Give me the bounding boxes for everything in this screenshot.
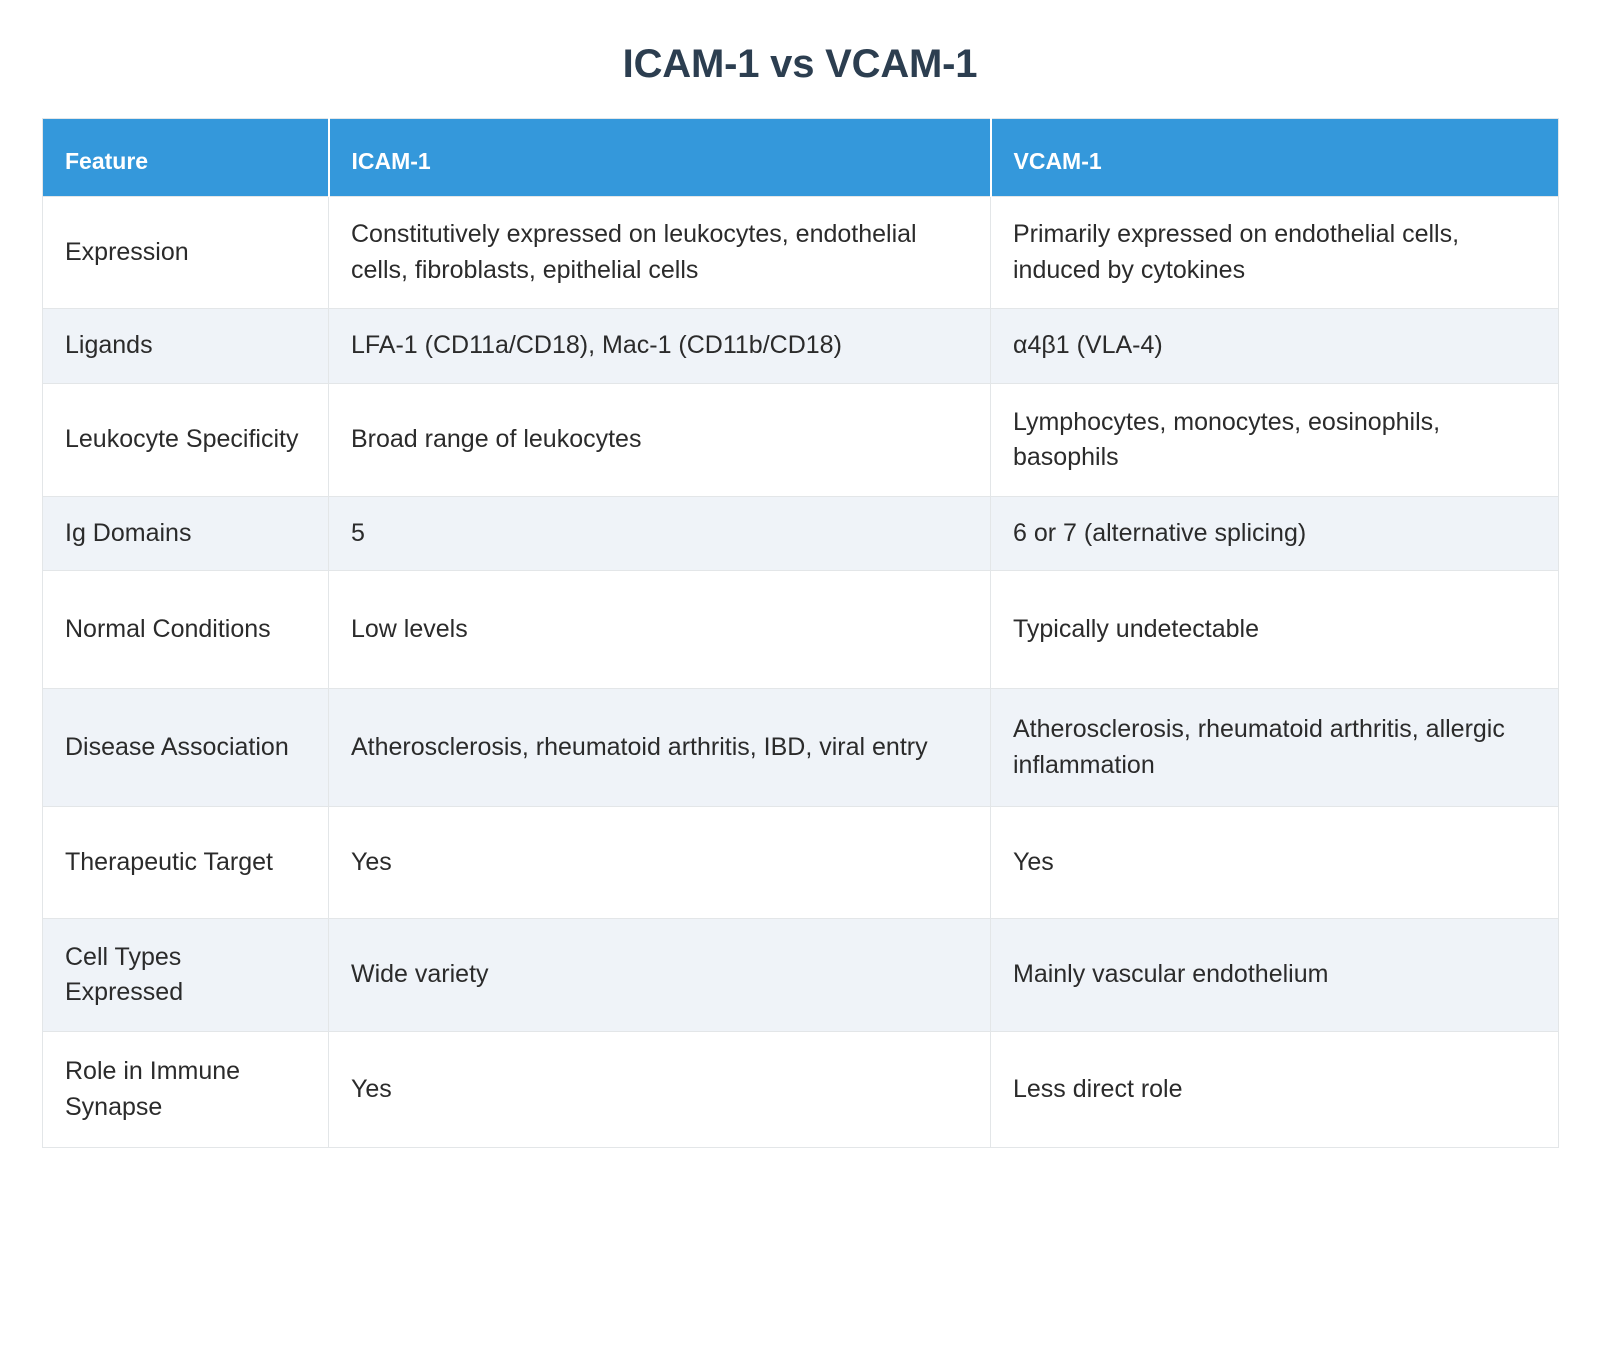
- comparison-table: Feature ICAM-1 VCAM-1 Expression Constit…: [42, 118, 1559, 1148]
- cell-icam1: Atherosclerosis, rheumatoid arthritis, I…: [329, 689, 991, 807]
- cell-icam1: Constitutively expressed on leukocytes, …: [329, 197, 991, 309]
- cell-feature: Ig Domains: [43, 497, 329, 571]
- cell-feature: Leukocyte Specificity: [43, 384, 329, 497]
- cell-feature: Ligands: [43, 309, 329, 384]
- table-row: Normal Conditions Low levels Typically u…: [43, 571, 1559, 689]
- cell-icam1: Low levels: [329, 571, 991, 689]
- cell-icam1: Yes: [329, 1032, 991, 1148]
- cell-vcam1: Yes: [991, 807, 1559, 919]
- cell-vcam1: Mainly vascular endothelium: [991, 919, 1559, 1032]
- column-header-vcam1: VCAM-1: [991, 119, 1559, 197]
- cell-vcam1: α4β1 (VLA-4): [991, 309, 1559, 384]
- page-root: ICAM-1 vs VCAM-1 Feature ICAM-1 VCAM-1 E…: [0, 0, 1600, 1346]
- table-row: Role in Immune Synapse Yes Less direct r…: [43, 1032, 1559, 1148]
- cell-icam1: Wide variety: [329, 919, 991, 1032]
- cell-vcam1: Lymphocytes, monocytes, eosinophils, bas…: [991, 384, 1559, 497]
- table-row: Ig Domains 5 6 or 7 (alternative splicin…: [43, 497, 1559, 571]
- comparison-table-container: Feature ICAM-1 VCAM-1 Expression Constit…: [42, 118, 1558, 1148]
- page-title: ICAM-1 vs VCAM-1: [0, 40, 1600, 88]
- table-row: Expression Constitutively expressed on l…: [43, 197, 1559, 309]
- table-row: Therapeutic Target Yes Yes: [43, 807, 1559, 919]
- table-body: Expression Constitutively expressed on l…: [43, 197, 1559, 1148]
- column-header-icam1: ICAM-1: [329, 119, 991, 197]
- cell-icam1: Yes: [329, 807, 991, 919]
- cell-feature: Expression: [43, 197, 329, 309]
- cell-vcam1: 6 or 7 (alternative splicing): [991, 497, 1559, 571]
- table-row: Leukocyte Specificity Broad range of leu…: [43, 384, 1559, 497]
- cell-feature: Role in Immune Synapse: [43, 1032, 329, 1148]
- column-header-feature: Feature: [43, 119, 329, 197]
- cell-vcam1: Primarily expressed on endothelial cells…: [991, 197, 1559, 309]
- table-row: Cell Types Expressed Wide variety Mainly…: [43, 919, 1559, 1032]
- header-row: Feature ICAM-1 VCAM-1: [43, 119, 1559, 197]
- cell-vcam1: Atherosclerosis, rheumatoid arthritis, a…: [991, 689, 1559, 807]
- table-row: Disease Association Atherosclerosis, rhe…: [43, 689, 1559, 807]
- cell-icam1: Broad range of leukocytes: [329, 384, 991, 497]
- cell-feature: Normal Conditions: [43, 571, 329, 689]
- cell-feature: Cell Types Expressed: [43, 919, 329, 1032]
- cell-icam1: 5: [329, 497, 991, 571]
- table-header: Feature ICAM-1 VCAM-1: [43, 119, 1559, 197]
- cell-icam1: LFA-1 (CD11a/CD18), Mac-1 (CD11b/CD18): [329, 309, 991, 384]
- cell-vcam1: Typically undetectable: [991, 571, 1559, 689]
- cell-feature: Therapeutic Target: [43, 807, 329, 919]
- cell-feature: Disease Association: [43, 689, 329, 807]
- cell-vcam1: Less direct role: [991, 1032, 1559, 1148]
- table-row: Ligands LFA-1 (CD11a/CD18), Mac-1 (CD11b…: [43, 309, 1559, 384]
